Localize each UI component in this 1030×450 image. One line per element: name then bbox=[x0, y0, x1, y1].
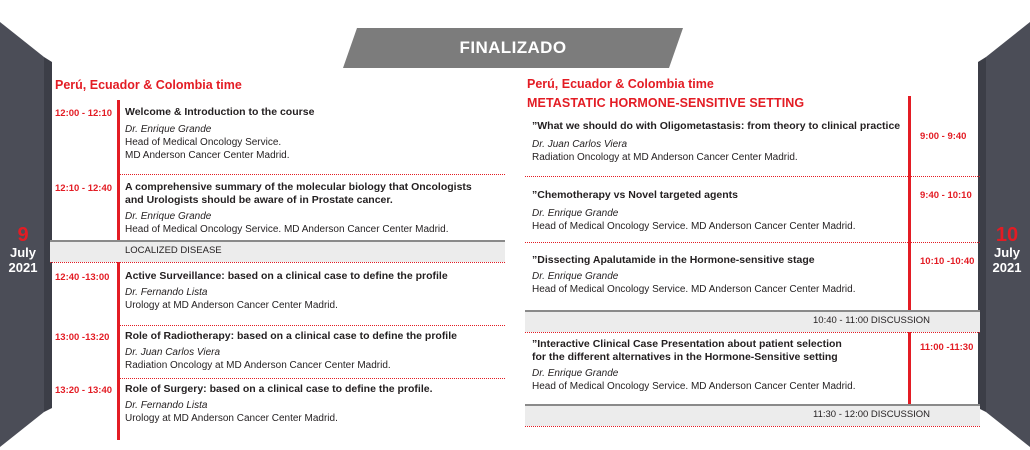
day1-session-2-title-1: A comprehensive summary of the molecular… bbox=[125, 181, 520, 194]
day2-divider-1 bbox=[525, 176, 980, 177]
day2-session-1-time: 9:00 - 9:40 bbox=[920, 131, 966, 142]
day2-session-4-speaker: Dr. Enrique Grande bbox=[532, 367, 907, 380]
day2-vrule-top bbox=[908, 96, 911, 310]
day1-divider-2 bbox=[50, 262, 505, 263]
day1-session-1-title: Welcome & Introduction to the course bbox=[125, 106, 505, 119]
day2-session-1-affil-1: Radiation Oncology at MD Anderson Cancer… bbox=[532, 151, 902, 164]
day1-session-4-time: 13:00 -13:20 bbox=[55, 332, 109, 343]
day2-divider-3 bbox=[525, 332, 980, 333]
day1-session-1-time: 12:00 - 12:10 bbox=[55, 108, 112, 119]
date-right-text: 10 July 2021 bbox=[984, 224, 1030, 275]
day2-discussion-band-2-label: 11:30 - 12:00 DISCUSSION bbox=[813, 409, 930, 420]
day1-session-1-affil-2: MD Anderson Cancer Center Madrid. bbox=[125, 149, 505, 162]
day2-vrule-mid bbox=[908, 332, 911, 404]
day2-divider-4 bbox=[525, 426, 980, 427]
day2-session-3-time: 10:10 -10:40 bbox=[920, 256, 974, 267]
day1-session-2-time: 12:10 - 12:40 bbox=[55, 183, 112, 194]
day1-session-3-time: 12:40 -13:00 bbox=[55, 272, 109, 283]
day1-session-4-speaker: Dr. Juan Carlos Viera bbox=[125, 346, 505, 359]
day1-session-5-speaker: Dr. Fernando Lista bbox=[125, 399, 505, 412]
day1-session-3-affil-1: Urology at MD Anderson Cancer Center Mad… bbox=[125, 299, 505, 312]
day2-session-4-title-2: for the different alternatives in the Ho… bbox=[532, 351, 907, 364]
day1-session-2-speaker: Dr. Enrique Grande bbox=[125, 210, 520, 223]
day2-divider-2 bbox=[525, 242, 980, 243]
day1-divider-3 bbox=[117, 325, 505, 326]
day2-session-1-speaker: Dr. Juan Carlos Viera bbox=[532, 138, 902, 151]
day1-session-2-title-2: and Urologists should be aware of in Pro… bbox=[125, 194, 520, 207]
date-right-month: July bbox=[984, 246, 1030, 261]
day1-divider-1 bbox=[117, 174, 505, 175]
day1-session-1-affil-1: Head of Medical Oncology Service. bbox=[125, 136, 505, 149]
day1-session-1-speaker: Dr. Enrique Grande bbox=[125, 123, 505, 136]
day2-session-1-title: ”What we should do with Oligometastasis:… bbox=[532, 120, 902, 133]
day1-divider-4 bbox=[117, 378, 505, 379]
day2-session-3-title: ”Dissecting Apalutamide in the Hormone-s… bbox=[532, 254, 902, 267]
day1-section-band-label: LOCALIZED DISEASE bbox=[125, 245, 222, 256]
day1-session-3-title: Active Surveillance: based on a clinical… bbox=[125, 270, 505, 283]
date-slab-left: 9 July 2021 bbox=[0, 0, 60, 450]
agenda-poster: 9 July 2021 10 July 2021 FINALIZADO Perú… bbox=[0, 0, 1030, 450]
day2-section-heading: METASTATIC HORMONE-SENSITIVE SETTING bbox=[527, 96, 804, 110]
day2-session-2-speaker: Dr. Enrique Grande bbox=[532, 207, 902, 220]
status-badge: FINALIZADO bbox=[343, 28, 683, 68]
day2-session-4-time: 11:00 -11:30 bbox=[920, 342, 973, 353]
date-right-year: 2021 bbox=[984, 261, 1030, 276]
day1-session-2-affil-1: Head of Medical Oncology Service. MD And… bbox=[125, 223, 520, 236]
day2-session-2-title: ”Chemotherapy vs Novel targeted agents bbox=[532, 189, 902, 202]
day2-session-4-title-1: ”Interactive Clinical Case Presentation … bbox=[532, 338, 907, 351]
day2-session-2-time: 9:40 - 10:10 bbox=[920, 190, 972, 201]
day2-timezone-title: Perú, Ecuador & Colombia time bbox=[527, 77, 714, 91]
date-left-text: 9 July 2021 bbox=[0, 224, 46, 275]
day2-session-3-speaker: Dr. Enrique Grande bbox=[532, 270, 902, 283]
day1-vrule-top bbox=[117, 100, 120, 246]
day1-vrule-bottom bbox=[117, 268, 120, 440]
day1-session-5-time: 13:20 - 13:40 bbox=[55, 385, 112, 396]
day2-session-3-affil-1: Head of Medical Oncology Service. MD And… bbox=[532, 283, 902, 296]
date-left-month: July bbox=[0, 246, 46, 261]
day2-session-2-affil-1: Head of Medical Oncology Service. MD And… bbox=[532, 220, 902, 233]
day2-discussion-band-1-label: 10:40 - 11:00 DISCUSSION bbox=[813, 315, 930, 326]
date-slab-right: 10 July 2021 bbox=[970, 0, 1030, 450]
date-right-day: 10 bbox=[984, 224, 1030, 246]
day1-timezone-title: Perú, Ecuador & Colombia time bbox=[55, 78, 242, 92]
day1-session-4-title: Role of Radiotherapy: based on a clinica… bbox=[125, 330, 505, 343]
day1-session-5-title: Role of Surgery: based on a clinical cas… bbox=[125, 383, 505, 396]
day1-session-4-affil-1: Radiation Oncology at MD Anderson Cancer… bbox=[125, 359, 505, 372]
date-left-year: 2021 bbox=[0, 261, 46, 276]
day1-session-5-affil-1: Urology at MD Anderson Cancer Center Mad… bbox=[125, 412, 505, 425]
day2-session-4-affil-1: Head of Medical Oncology Service. MD And… bbox=[532, 380, 907, 393]
day1-session-3-speaker: Dr. Fernando Lista bbox=[125, 286, 505, 299]
day1-section-band bbox=[50, 240, 505, 262]
date-left-day: 9 bbox=[0, 224, 46, 246]
